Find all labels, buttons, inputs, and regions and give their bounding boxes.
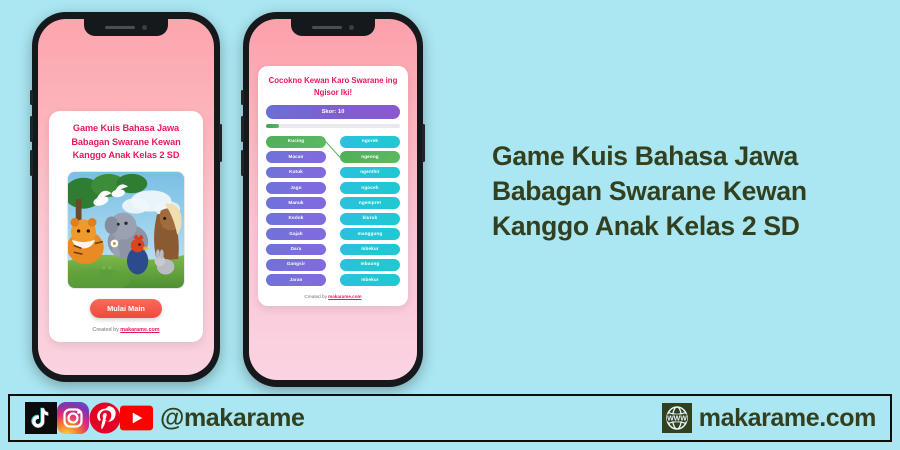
animal-option-5[interactable]: Kodok (266, 213, 326, 225)
front-camera-icon (349, 25, 354, 30)
instagram-icon[interactable] (56, 402, 89, 435)
start-card-title: Game Kuis Bahasa Jawa Babagan Swarane Ke… (58, 122, 194, 163)
phone2-mute-switch (241, 90, 244, 105)
phone1-mute-switch (30, 90, 33, 105)
phone2-power-button (422, 124, 425, 162)
sound-column: ngorekngeongngenthirngocehngempretkluruk… (340, 136, 400, 286)
animal-option-3[interactable]: Jago (266, 182, 326, 194)
sound-option-5[interactable]: kluruk (340, 213, 400, 225)
credit-link[interactable]: makarame.com (120, 327, 159, 333)
sound-option-7[interactable]: mbekur (340, 244, 400, 256)
sound-option-6[interactable]: manggung (340, 228, 400, 240)
credit-line: Created by makarame.com (266, 294, 400, 299)
social-links: @makarame (24, 402, 304, 435)
phone-mockups: Game Kuis Bahasa Jawa Babagan Swarane Ke… (0, 0, 470, 396)
website-link[interactable]: WWW makarame.com (662, 403, 876, 433)
sound-option-4[interactable]: ngempret (340, 197, 400, 209)
phone1-volume-up-button (30, 116, 33, 142)
tiktok-icon[interactable] (24, 402, 57, 435)
sound-option-8[interactable]: mbaung (340, 259, 400, 271)
phone-mockup-quiz-screen: Cocokno Kewan Karo Swarane ing Ngisor Ik… (243, 12, 423, 387)
sound-option-3[interactable]: ngoceh (340, 182, 400, 194)
animal-option-9[interactable]: Jaran (266, 274, 326, 286)
speaker-grille-icon (312, 26, 342, 29)
speaker-grille-icon (105, 26, 135, 29)
svg-text:WWW: WWW (667, 415, 687, 422)
promo-canvas: Game Kuis Bahasa Jawa Babagan Swarane Ke… (0, 0, 900, 450)
phone1-volume-down-button (30, 150, 33, 176)
phone-mockup-start-screen: Game Kuis Bahasa Jawa Babagan Swarane Ke… (32, 12, 220, 382)
phone2-notch (291, 19, 375, 36)
animal-option-2[interactable]: Kutuk (266, 167, 326, 179)
start-game-button[interactable]: Mulai Main (90, 299, 162, 318)
phone2-screen: Cocokno Kewan Karo Swarane ing Ngisor Ik… (249, 19, 417, 380)
progress-bar-fill (266, 124, 279, 128)
score-badge: Skor: 10 (266, 105, 400, 119)
animal-option-1[interactable]: Macan (266, 151, 326, 163)
phone1-power-button (219, 124, 222, 162)
sound-option-1[interactable]: ngeong (340, 151, 400, 163)
www-globe-icon: WWW (662, 403, 692, 433)
animal-column: KucingMacanKutukJagoManukKodokGajahDaraG… (266, 136, 326, 286)
youtube-icon[interactable] (120, 402, 153, 435)
website-text: makarame.com (699, 404, 876, 433)
quiz-card: Cocokno Kewan Karo Swarane ing Ngisor Ik… (258, 66, 408, 306)
animal-option-7[interactable]: Dara (266, 244, 326, 256)
progress-bar (266, 124, 400, 128)
quiz-card-title: Cocokno Kewan Karo Swarane ing Ngisor Ik… (266, 75, 400, 98)
animal-option-6[interactable]: Gajah (266, 228, 326, 240)
pinterest-icon[interactable] (88, 402, 121, 435)
animal-option-0[interactable]: Kucing (266, 136, 326, 148)
social-handle: @makarame (160, 404, 304, 433)
sound-option-2[interactable]: ngenthir (340, 167, 400, 179)
cartoon-animals-illustration (67, 171, 185, 289)
credit-link[interactable]: makarame.com (328, 294, 361, 299)
phone2-volume-down-button (241, 150, 244, 176)
animal-option-8[interactable]: Gangsir (266, 259, 326, 271)
phone1-notch (84, 19, 168, 36)
phone1-screen: Game Kuis Bahasa Jawa Babagan Swarane Ke… (38, 19, 214, 375)
sound-option-0[interactable]: ngorek (340, 136, 400, 148)
matching-grid: KucingMacanKutukJagoManukKodokGajahDaraG… (266, 136, 400, 286)
credit-line: Created by makarame.com (58, 327, 194, 333)
promo-headline: Game Kuis Bahasa Jawa Babagan Swarane Ke… (492, 139, 888, 245)
animal-option-4[interactable]: Manuk (266, 197, 326, 209)
phone2-volume-up-button (241, 116, 244, 142)
footer-bar: @makarame WWW makarame.com (8, 394, 892, 442)
front-camera-icon (142, 25, 147, 30)
credit-prefix: Created by (92, 327, 120, 333)
sound-option-9[interactable]: mbekur (340, 274, 400, 286)
start-card: Game Kuis Bahasa Jawa Babagan Swarane Ke… (49, 111, 203, 342)
credit-prefix: Created by (304, 294, 328, 299)
